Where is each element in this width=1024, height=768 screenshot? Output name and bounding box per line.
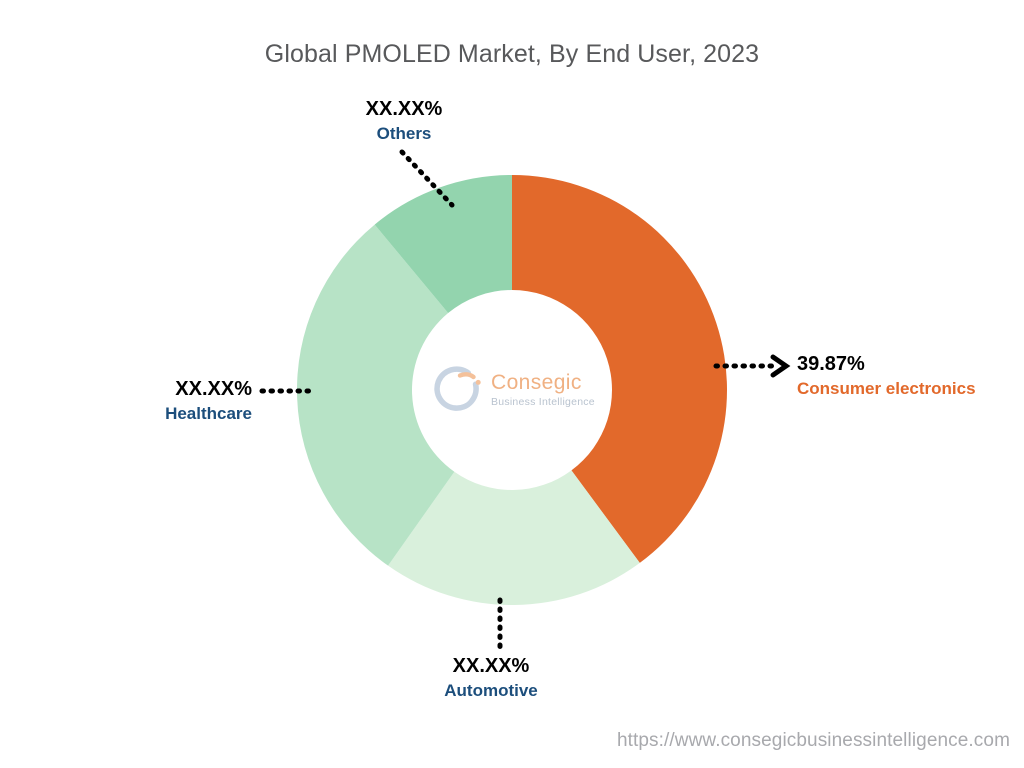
callout-healthcare-label: Healthcare [142, 404, 252, 424]
callout-automotive-label: Automotive [432, 681, 550, 701]
callout-consumer-label: Consumer electronics [797, 379, 976, 399]
footer-url: https://www.consegicbusinessintelligence… [617, 730, 1010, 752]
leader-arrow-icon [773, 357, 786, 375]
callout-healthcare-percent: XX.XX% [142, 378, 252, 401]
callout-automotive-percent: XX.XX% [432, 655, 550, 678]
callout-healthcare: XX.XX% Healthcare [142, 378, 252, 424]
donut-chart [297, 175, 727, 605]
chart-container: Global PMOLED Market, By End User, 2023 … [0, 0, 1024, 768]
callout-consumer-electronics: 39.87% Consumer electronics [797, 353, 976, 399]
callout-others: XX.XX% Others [358, 98, 450, 144]
callout-others-percent: XX.XX% [358, 98, 450, 121]
chart-title: Global PMOLED Market, By End User, 2023 [0, 40, 1024, 69]
callout-automotive: XX.XX% Automotive [432, 655, 550, 701]
callout-consumer-percent: 39.87% [797, 353, 976, 376]
donut-svg [297, 175, 727, 605]
callout-others-label: Others [358, 124, 450, 144]
